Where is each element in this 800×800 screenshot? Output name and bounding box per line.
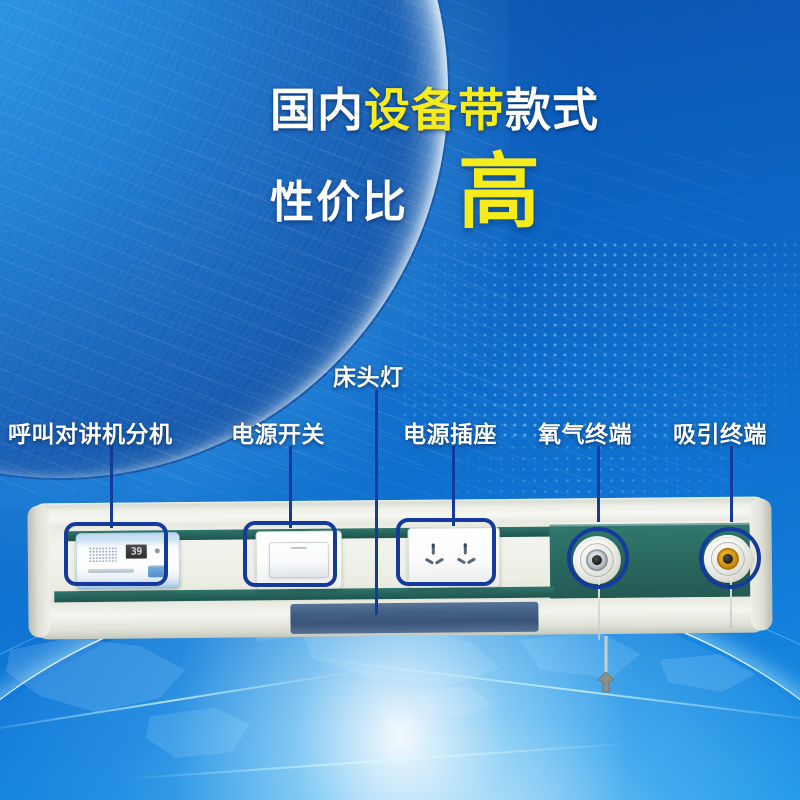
suction-terminal-cord xyxy=(730,578,732,628)
nurse-call-intercom-unit[interactable]: 39 xyxy=(76,532,181,589)
panel-end-cap-right xyxy=(749,498,772,630)
speaker-grille-icon xyxy=(89,547,117,562)
power-switch-rocker[interactable] xyxy=(269,542,329,579)
socket-pin-cap-icon xyxy=(432,544,435,548)
oxygen-terminal-cord xyxy=(598,578,600,640)
socket-pin-slant-right-icon xyxy=(435,558,444,565)
leader-line-suction xyxy=(730,446,733,522)
headline-line1-part2: 款式 xyxy=(505,84,599,136)
power-socket-plate[interactable] xyxy=(408,527,501,588)
power-switch-plate[interactable] xyxy=(256,531,343,590)
headline-line-2: 性价比 xyxy=(270,166,408,230)
label-suction-terminal: 吸引终端 xyxy=(673,415,767,449)
headline-line-2-row: 性价比 高 xyxy=(270,156,790,230)
status-led-icon xyxy=(155,548,160,553)
bed-head-unit-panel: 39 xyxy=(27,496,772,643)
headline-line1-part1: 国内 xyxy=(270,84,364,136)
leader-line-oxygen xyxy=(597,446,600,522)
bed-lamp-cover-strip xyxy=(290,602,538,634)
suction-terminal-outlet[interactable] xyxy=(704,535,752,583)
call-cord-hook-icon xyxy=(590,636,622,696)
socket-pin-slant-left-icon xyxy=(425,558,434,565)
label-bed-lamp: 床头灯 xyxy=(333,358,404,392)
socket-pin-cap-icon xyxy=(464,543,467,547)
leader-line-intercom xyxy=(110,446,113,528)
rocker-indent-icon xyxy=(291,547,307,549)
suction-terminal-core[interactable] xyxy=(717,548,739,570)
oxygen-terminal-outlet[interactable] xyxy=(573,536,621,584)
socket-pin-slant-left-icon xyxy=(457,557,466,564)
label-intercom: 呼叫对讲机分机 xyxy=(8,415,173,449)
panel-end-cap-left xyxy=(27,505,50,637)
microphone-slot-icon xyxy=(88,569,134,573)
leader-line-bed-lamp xyxy=(375,390,378,615)
headline-line1-accent: 设备带 xyxy=(364,84,505,136)
headline-emphasis-gao: 高 xyxy=(458,156,540,230)
headline-line-1: 国内设备带款式 xyxy=(270,86,790,134)
label-power-socket: 电源插座 xyxy=(403,415,497,449)
leader-line-power-socket xyxy=(452,446,455,526)
terminal-port-hole-icon xyxy=(592,555,602,565)
headline-block: 国内设备带款式 性价比 高 xyxy=(270,86,790,230)
promo-banner: 国内设备带款式 性价比 高 呼叫对讲机分机 电源开关 床头灯 电源插座 氧气终端… xyxy=(0,0,800,800)
leader-line-power-switch xyxy=(289,446,292,528)
socket-pin-slant-right-icon xyxy=(467,557,476,564)
terminal-port-hole-icon xyxy=(723,554,733,564)
oxygen-terminal-core[interactable] xyxy=(586,549,608,571)
label-power-switch: 电源开关 xyxy=(231,415,325,449)
intercom-call-button[interactable] xyxy=(148,565,165,577)
intercom-display: 39 xyxy=(126,544,147,558)
label-oxygen-terminal: 氧气终端 xyxy=(538,415,632,449)
